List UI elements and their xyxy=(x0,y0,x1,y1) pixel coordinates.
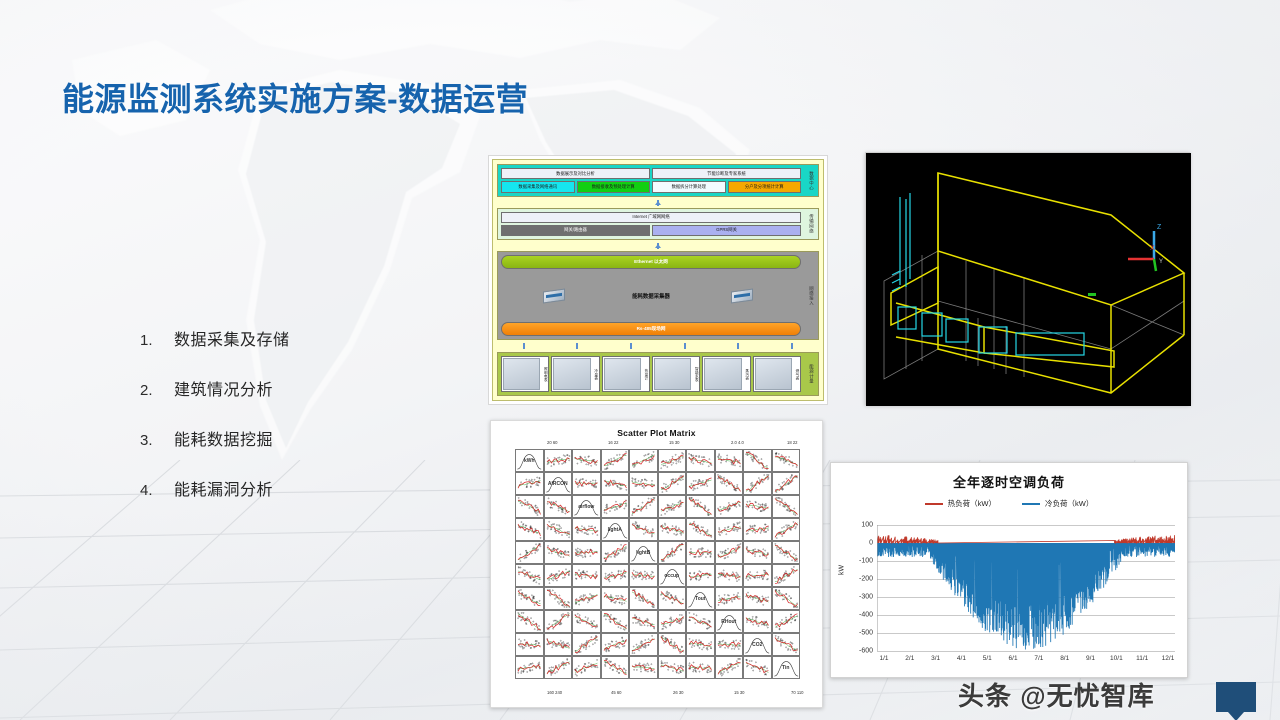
arch-cell: Internet 广域网网络 xyxy=(501,212,801,223)
heat-meter-icon xyxy=(604,358,641,390)
scatter-cell xyxy=(572,656,601,679)
architecture-diagram-image: 数据展示及对比分析 节能诊断及专家系统 数据采集及网络通讯 数据接收及预处理计算… xyxy=(488,155,828,405)
legend-swatch-cool xyxy=(1022,503,1040,505)
chart-series-canvas xyxy=(877,525,1175,651)
scatter-diagonal-label: lightA xyxy=(601,518,630,541)
chart-x-tick: 7/1 xyxy=(1034,655,1043,662)
scatter-diagonal-label: lightB xyxy=(629,541,658,564)
scatter-cell xyxy=(686,633,715,656)
scatter-cell xyxy=(658,518,687,541)
arch-device-connectors xyxy=(497,343,819,349)
arch-layer-label: 数据中心 xyxy=(804,165,818,196)
scatter-cell xyxy=(743,541,772,564)
arch-cell: 数据接收及预处理计算 xyxy=(577,181,651,192)
scatter-cell xyxy=(686,656,715,679)
chart-y-tick: 100 xyxy=(861,522,873,529)
scatter-cell xyxy=(772,541,801,564)
legend-label-heat: 热负荷（kW） xyxy=(948,498,996,509)
scatter-cell xyxy=(772,472,801,495)
scatter-cell xyxy=(686,518,715,541)
scatter-cell xyxy=(743,518,772,541)
scatter-cell xyxy=(515,564,544,587)
scatter-cell xyxy=(658,587,687,610)
collector-device-icon xyxy=(543,288,565,303)
arch-connector-arrowhead xyxy=(655,201,661,205)
scatter-diagonal-label: CO2 xyxy=(743,633,772,656)
arch-connector-arrowhead xyxy=(655,244,661,248)
arch-ethernet-pipe: Ethernet 以太网 xyxy=(501,255,801,269)
scatter-diagonal-label: AIRCON xyxy=(544,472,573,495)
numbered-list: 1. 数据采集及存储 2. 建筑情况分析 3. 能耗数据挖掘 4. 能耗漏洞分析 xyxy=(140,326,420,526)
scatter-cell xyxy=(686,495,715,518)
scatter-cell xyxy=(572,564,601,587)
scatter-cell xyxy=(743,449,772,472)
gas-meter-icon xyxy=(755,358,792,390)
scatter-cell xyxy=(572,449,601,472)
chart-x-tick: 10/1 xyxy=(1110,655,1123,662)
device-item: 热量计 xyxy=(602,356,650,392)
scatter-tick-bottom: 70 110 xyxy=(791,690,804,695)
scatter-cell xyxy=(743,610,772,633)
scatter-cell xyxy=(743,656,772,679)
page-title: 能源监测系统实施方案-数据运营 xyxy=(62,74,528,120)
list-item-number: 1. xyxy=(140,332,174,349)
scatter-diagonal-label: occup xyxy=(658,564,687,587)
scatter-cell xyxy=(544,541,573,564)
scatter-cell xyxy=(715,633,744,656)
scatter-cell xyxy=(544,587,573,610)
building-3d-model-image: Z X Y xyxy=(865,152,1190,405)
device-item: 蒸汽表 xyxy=(702,356,750,392)
scatter-cell xyxy=(601,610,630,633)
scatter-cell xyxy=(772,610,801,633)
scatter-cell xyxy=(515,656,544,679)
scatter-cell xyxy=(715,495,744,518)
scatter-cell xyxy=(515,587,544,610)
legend-item-heat: 热负荷（kW） xyxy=(925,498,996,509)
device-label: 冷量表 xyxy=(591,369,598,380)
scatter-cell xyxy=(515,541,544,564)
chart-gridline xyxy=(877,651,1175,652)
scatter-cell xyxy=(743,495,772,518)
scatter-cell xyxy=(629,449,658,472)
scatter-cell xyxy=(601,587,630,610)
arch-rs485-pipe: Rs-485现场网 xyxy=(501,322,801,336)
slide-canvas: 能源监测系统实施方案-数据运营 1. 数据采集及存储 2. 建筑情况分析 3. … xyxy=(0,0,1280,720)
scatter-cell xyxy=(629,472,658,495)
scatter-cell xyxy=(601,541,630,564)
scatter-cell xyxy=(601,656,630,679)
scatter-cell xyxy=(572,633,601,656)
list-item: 1. 数据采集及存储 xyxy=(140,326,420,350)
scatter-tick-top: 2.0 4.0 xyxy=(731,440,744,445)
chart-y-tick: -600 xyxy=(859,648,873,655)
scatter-cell xyxy=(629,610,658,633)
scatter-cell xyxy=(544,656,573,679)
chart-y-tick: -300 xyxy=(859,594,873,601)
chart-x-tick: 5/1 xyxy=(983,655,992,662)
chart-x-tick: 12/1 xyxy=(1162,655,1175,662)
scatter-cell xyxy=(658,449,687,472)
scatter-cell xyxy=(601,564,630,587)
scatter-tick-top: 15 30 xyxy=(669,440,679,445)
scatter-cell xyxy=(629,518,658,541)
chart-x-tick: 3/1 xyxy=(931,655,940,662)
scatter-cell xyxy=(686,610,715,633)
arch-layer-transport-network: Internet 广域网网络 网关/路由器 GPRS网关 传输网络 xyxy=(497,208,819,241)
scatter-cell xyxy=(715,564,744,587)
watermark-text: 头条 @无忧智库 xyxy=(958,676,1155,713)
scatter-cell xyxy=(772,587,801,610)
chart-x-tick: 1/1 xyxy=(879,655,888,662)
scatter-cell xyxy=(686,541,715,564)
scatter-cell xyxy=(629,495,658,518)
water-meter-icon xyxy=(654,358,691,390)
scatter-cell xyxy=(686,472,715,495)
scatter-cell xyxy=(601,495,630,518)
scatter-cell xyxy=(715,541,744,564)
list-item-label: 能耗漏洞分析 xyxy=(174,476,273,500)
chart-x-tick: 2/1 xyxy=(905,655,914,662)
list-item-label: 能耗数据挖掘 xyxy=(174,426,273,450)
arch-cell: 数据展示及对比分析 xyxy=(501,168,650,179)
scatter-cell xyxy=(629,656,658,679)
scatter-cell xyxy=(658,541,687,564)
scatter-tick-bottom: 26 30 xyxy=(673,690,683,695)
list-item: 3. 能耗数据挖掘 xyxy=(140,426,420,450)
scatter-cell xyxy=(572,472,601,495)
scatter-cell xyxy=(629,633,658,656)
chart-x-tick: 6/1 xyxy=(1009,655,1018,662)
scatter-tick-bottom: 45 60 xyxy=(611,690,621,695)
list-item: 4. 能耗漏洞分析 xyxy=(140,476,420,500)
scatter-cell xyxy=(515,472,544,495)
svg-text:X: X xyxy=(1150,245,1155,252)
scatter-cell xyxy=(544,610,573,633)
device-item: 燃气表 xyxy=(753,356,801,392)
legend-item-cool: 冷负荷（kW） xyxy=(1022,498,1093,509)
scatter-cell xyxy=(515,518,544,541)
scatter-cell xyxy=(601,472,630,495)
scatter-cell xyxy=(743,564,772,587)
scatter-cell xyxy=(544,633,573,656)
scatter-cell xyxy=(515,610,544,633)
scatter-cell xyxy=(658,656,687,679)
scatter-cell xyxy=(715,587,744,610)
scatter-tick-top: 20 60 xyxy=(547,440,557,445)
watermark-badge xyxy=(1216,682,1256,712)
list-item-label: 数据采集及存储 xyxy=(174,326,290,350)
chart-y-tick: -500 xyxy=(859,630,873,637)
collector-device-icon xyxy=(731,288,753,303)
scatter-cell xyxy=(715,449,744,472)
scatter-cell xyxy=(658,610,687,633)
scatter-diagonal-label: Tin xyxy=(772,656,801,679)
scatter-cell xyxy=(544,449,573,472)
scatter-cell xyxy=(743,472,772,495)
arch-cell: GPRS网关 xyxy=(652,225,801,236)
arch-cell: 数据拆分计算处理 xyxy=(652,181,726,192)
svg-text:Y: Y xyxy=(1159,259,1163,265)
scatter-plot-matrix-image: Scatter Plot Matrix 20 60 16 22 15 30 2.… xyxy=(490,420,823,708)
chart-y-tick: -400 xyxy=(859,612,873,619)
arch-layer-label: 能源计量 xyxy=(804,353,818,395)
wireframe-canvas: Z X Y xyxy=(866,153,1191,406)
chart-x-tick: 8/1 xyxy=(1060,655,1069,662)
scatter-cell xyxy=(715,656,744,679)
device-item: 智能水表 xyxy=(652,356,700,392)
arch-layer-metering: 照明电表 冷量表 热量计 智能水表 xyxy=(497,352,819,396)
scatter-cell xyxy=(515,495,544,518)
scatter-cell xyxy=(658,495,687,518)
scatter-cell xyxy=(601,633,630,656)
scatter-cell xyxy=(544,518,573,541)
annual-hvac-load-chart: 全年逐时空调负荷 热负荷（kW） 冷负荷（kW） kW 1000-100-200… xyxy=(830,462,1188,678)
device-label: 智能水表 xyxy=(691,367,698,381)
electric-meter-icon xyxy=(503,358,540,390)
chart-x-tick: 9/1 xyxy=(1086,655,1095,662)
device-label: 热量计 xyxy=(641,369,648,380)
legend-label-cool: 冷负荷（kW） xyxy=(1045,498,1093,509)
chart-y-tick: -100 xyxy=(859,558,873,565)
chart-y-tick: -200 xyxy=(859,576,873,583)
list-item-number: 3. xyxy=(140,432,174,449)
chart-plot-area: 1000-100-200-300-400-500-6001/12/13/14/1… xyxy=(877,525,1175,651)
arch-collector-label: 能耗数据采集器 xyxy=(632,288,670,304)
device-item: 冷量表 xyxy=(551,356,599,392)
scatter-cell xyxy=(572,610,601,633)
chart-y-tick: 0 xyxy=(869,540,873,547)
scatter-cell xyxy=(686,449,715,472)
scatter-tick-bottom: 160 240 xyxy=(547,690,562,695)
arch-layer-network-access: Ethernet 以太网 能耗数据采集器 Rs-485现场网 网络接入 xyxy=(497,251,819,340)
scatter-cell xyxy=(572,518,601,541)
device-label: 照明电表 xyxy=(540,367,547,381)
arch-cell: 数据采集及网络通讯 xyxy=(501,181,575,192)
steam-meter-icon xyxy=(704,358,741,390)
scatter-cell xyxy=(772,564,801,587)
scatter-cell xyxy=(544,495,573,518)
scatter-cell xyxy=(772,449,801,472)
device-label: 燃气表 xyxy=(792,369,799,380)
chart-legend: 热负荷（kW） 冷负荷（kW） xyxy=(831,498,1187,509)
scatter-diagonal-label: RHout xyxy=(715,610,744,633)
scatter-tick-bottom: 15 30 xyxy=(734,690,744,695)
scatter-cell xyxy=(686,564,715,587)
list-item-number: 4. xyxy=(140,482,174,499)
scatter-cell xyxy=(629,587,658,610)
scatter-tick-top: 16 22 xyxy=(608,440,618,445)
scatter-cell xyxy=(715,472,744,495)
list-item-label: 建筑情况分析 xyxy=(174,376,273,400)
scatter-tick-top: 18 22 xyxy=(787,440,797,445)
svg-text:Z: Z xyxy=(1157,224,1162,231)
scatter-matrix-title: Scatter Plot Matrix xyxy=(491,421,822,438)
arch-layer-data-center: 数据展示及对比分析 节能诊断及专家系统 数据采集及网络通讯 数据接收及预处理计算… xyxy=(497,164,819,197)
scatter-cell xyxy=(715,518,744,541)
device-item: 照明电表 xyxy=(501,356,549,392)
scatter-cell xyxy=(629,564,658,587)
scatter-cell xyxy=(658,472,687,495)
chart-x-tick: 11/1 xyxy=(1136,655,1148,662)
scatter-diagonal-label: kWh xyxy=(515,449,544,472)
scatter-cell xyxy=(772,495,801,518)
chart-y-axis-label: kW xyxy=(839,565,846,575)
cooling-meter-icon xyxy=(553,358,590,390)
arch-layer-label: 网络接入 xyxy=(804,252,818,339)
scatter-cell xyxy=(772,518,801,541)
scatter-cell xyxy=(601,449,630,472)
legend-swatch-heat xyxy=(925,503,943,505)
scatter-matrix-grid: kWhAIRCONairflowlightAlightBoccupToutRHo… xyxy=(515,449,800,679)
scatter-cell xyxy=(544,564,573,587)
scatter-cell xyxy=(515,633,544,656)
chart-title: 全年逐时空调负荷 xyxy=(831,463,1187,491)
scatter-diagonal-label: Tout xyxy=(686,587,715,610)
list-item-number: 2. xyxy=(140,382,174,399)
arch-cell: 节能诊断及专家系统 xyxy=(652,168,801,179)
list-item: 2. 建筑情况分析 xyxy=(140,376,420,400)
scatter-diagonal-label: airflow xyxy=(572,495,601,518)
device-label: 蒸汽表 xyxy=(742,369,749,380)
scatter-cell xyxy=(572,541,601,564)
arch-cell: 分户及分项统计计算 xyxy=(728,181,802,192)
scatter-cell xyxy=(658,633,687,656)
arch-cell: 网关/路由器 xyxy=(501,225,650,236)
chart-x-tick: 4/1 xyxy=(957,655,966,662)
scatter-cell xyxy=(743,587,772,610)
arch-layer-label: 传输网络 xyxy=(804,209,818,240)
scatter-cell xyxy=(572,587,601,610)
scatter-cell xyxy=(772,633,801,656)
